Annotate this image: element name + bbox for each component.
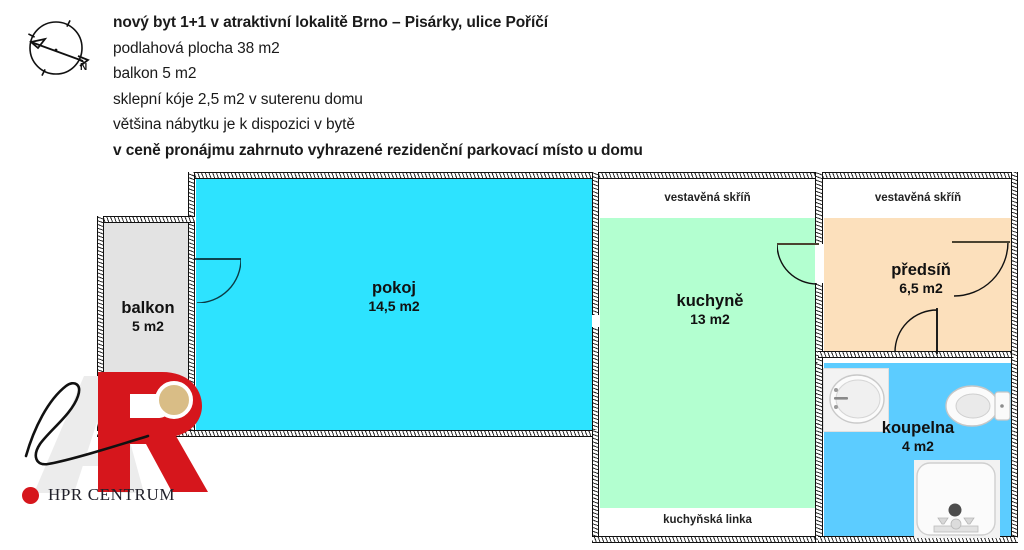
room-label-pokoj: pokoj 14,5 m2 bbox=[296, 278, 492, 315]
wall-pokoj-kuchyne-upper bbox=[592, 172, 599, 315]
door-predsin-koupelna bbox=[893, 308, 939, 354]
room-name-koupelna: koupelna bbox=[848, 418, 988, 438]
wall-kuchyne-left-lower bbox=[592, 430, 599, 543]
shower-tray-fixture bbox=[914, 460, 1000, 538]
wall-pokoj-bottom bbox=[188, 430, 598, 437]
wall-right-outer-lower bbox=[1011, 358, 1018, 543]
brand-name: HPR CENTRUM bbox=[48, 485, 175, 505]
wall-kuchyne-bottom bbox=[592, 536, 818, 543]
room-label-koupelna: koupelna 4 m2 bbox=[848, 418, 988, 455]
room-label-kuchyne: kuchyně 13 m2 bbox=[615, 291, 805, 328]
room-area-pokoj: 14,5 m2 bbox=[296, 298, 492, 315]
wall-kuchyne-koupelna-div bbox=[815, 363, 823, 543]
brand-dot-icon bbox=[22, 487, 39, 504]
wall-right-outer-upper bbox=[1011, 172, 1018, 358]
annotation-kitchen-counter: kuchyňská linka bbox=[600, 514, 815, 526]
room-name-kuchyne: kuchyně bbox=[615, 291, 805, 311]
room-label-balkon: balkon 5 m2 bbox=[104, 298, 192, 335]
annotation-wardrobe-hall: vestavěná skříň bbox=[824, 192, 1012, 204]
wall-balkon-top bbox=[97, 216, 195, 223]
wall-kuchyne-predsin-upper bbox=[815, 172, 823, 244]
room-area-predsin: 6,5 m2 bbox=[836, 280, 1006, 297]
room-name-pokoj: pokoj bbox=[296, 278, 492, 298]
wall-pokoj-top bbox=[188, 172, 598, 179]
annotation-wardrobe-kitchen: vestavěná skříň bbox=[600, 192, 815, 204]
door-pokoj-kuchyne bbox=[777, 243, 819, 285]
room-label-predsin: předsíň 6,5 m2 bbox=[836, 260, 1006, 297]
room-area-balkon: 5 m2 bbox=[104, 318, 192, 335]
room-area-koupelna: 4 m2 bbox=[848, 438, 988, 455]
room-name-predsin: předsíň bbox=[836, 260, 1006, 280]
room-name-balkon: balkon bbox=[104, 298, 192, 318]
room-area-kuchyne: 13 m2 bbox=[615, 311, 805, 328]
wall-pokoj-kuchyne-lower bbox=[592, 327, 599, 437]
door-balkon bbox=[195, 257, 241, 303]
wall-kitchen-hall-top bbox=[592, 172, 1018, 179]
